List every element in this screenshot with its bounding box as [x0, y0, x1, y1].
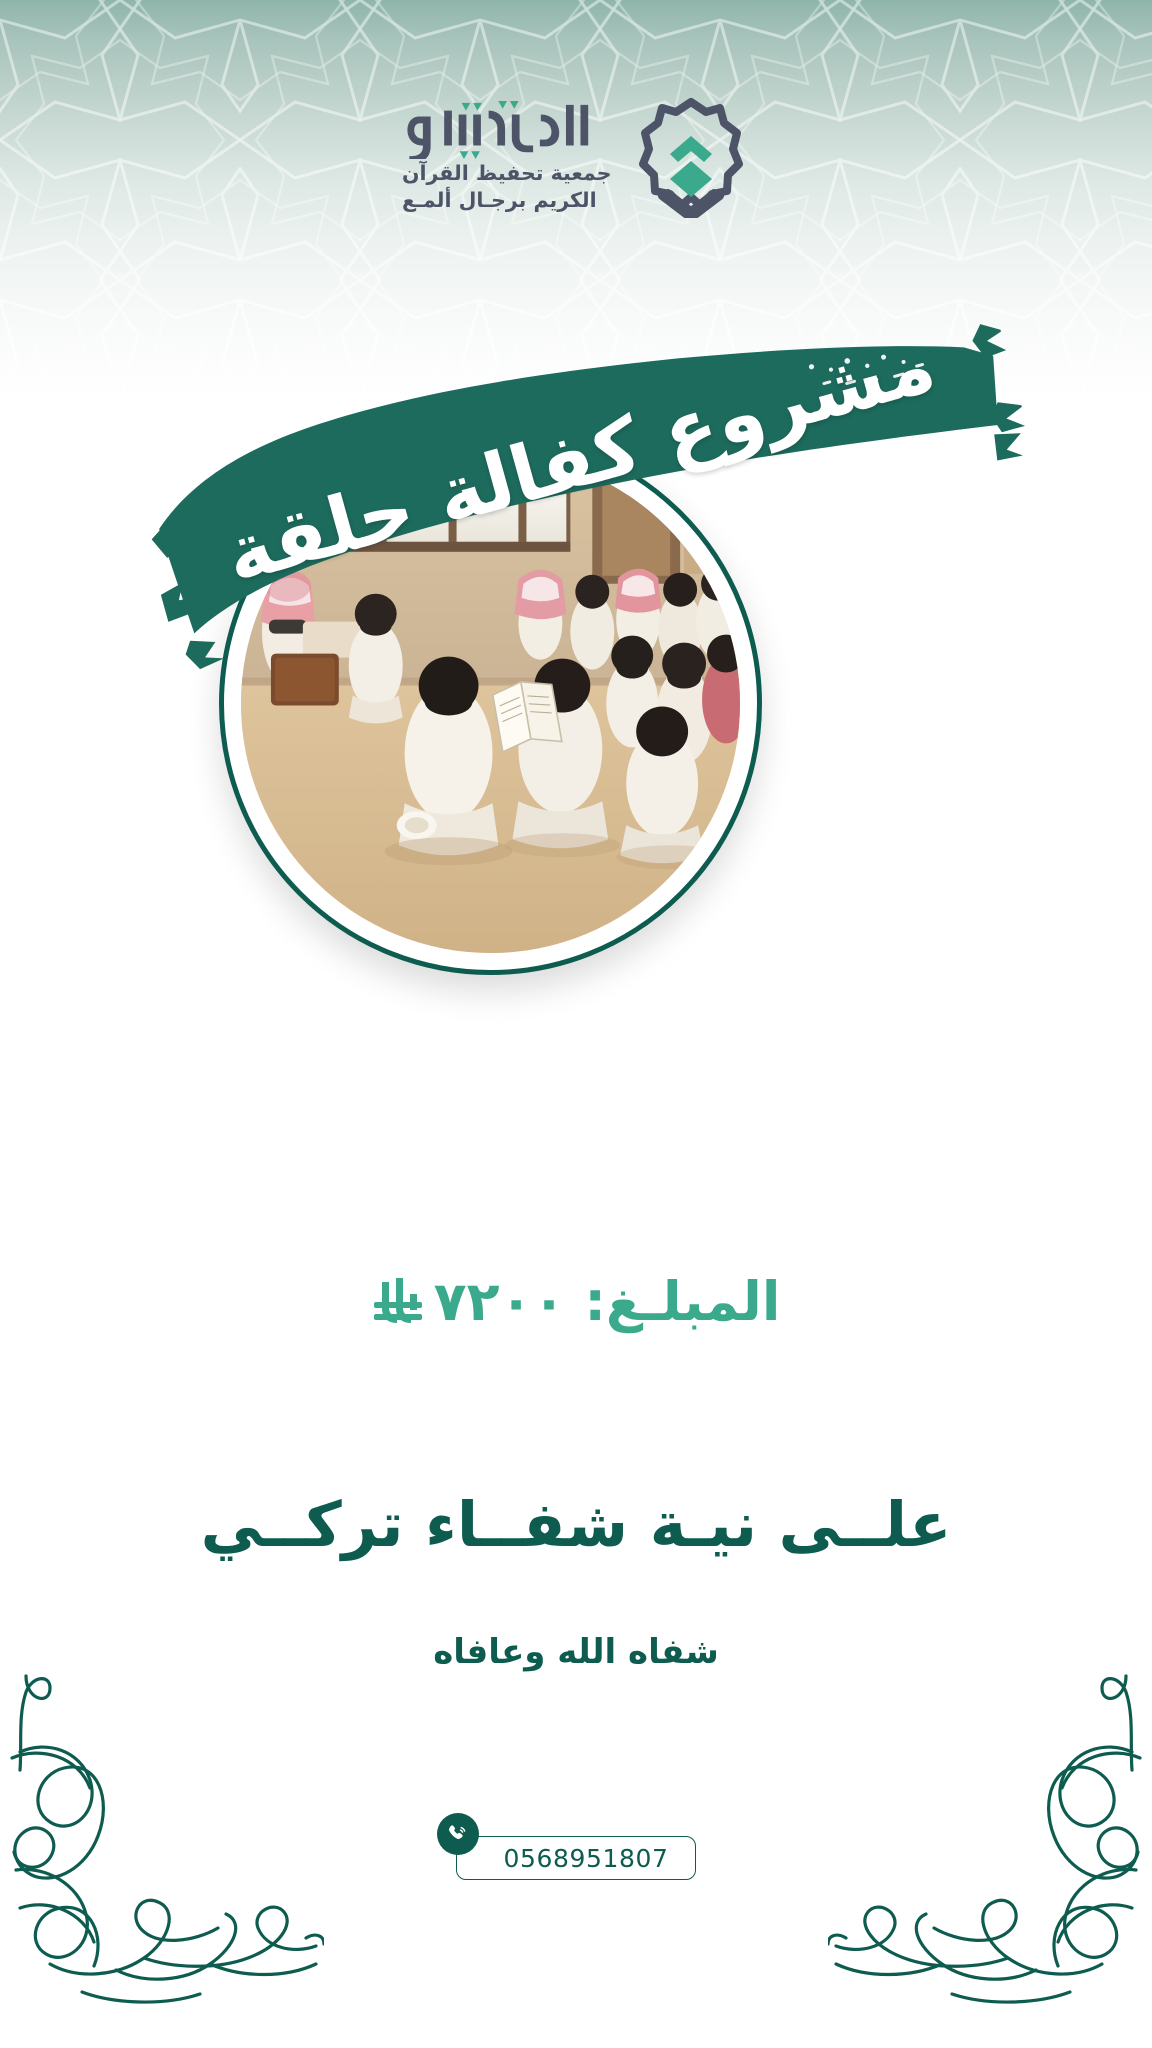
- phone-number[interactable]: 0568951807: [503, 1844, 668, 1873]
- organization-logo: جمعية تحفيظ القرآن الكريم برجـال ألمـع: [0, 96, 1152, 218]
- dedication-subline: شفاه الله وعافاه: [0, 1632, 1152, 1672]
- donation-poster: جمعية تحفيظ القرآن الكريم برجـال ألمـع: [0, 0, 1152, 2048]
- phone-call-icon[interactable]: [437, 1813, 479, 1855]
- trateel-hexagon-logo-icon: [632, 96, 750, 218]
- phone-pill[interactable]: 0568951807: [456, 1836, 695, 1880]
- trateel-wordmark: [402, 101, 612, 159]
- donation-amount: المبلـغ: ٧٢٠٠: [0, 1270, 1152, 1333]
- amount-label: المبلـغ: ٧٢٠٠: [434, 1270, 781, 1333]
- logo-subtitle-line-1: جمعية تحفيظ القرآن: [402, 161, 611, 186]
- saudi-riyal-symbol-icon: [372, 1276, 424, 1328]
- dedication-headline: علــى نيـة شفــاء تركــي: [0, 1488, 1152, 1561]
- logo-subtitle-line-2: الكريم برجـال ألمـع: [402, 188, 597, 213]
- contact-badge[interactable]: 0568951807: [0, 1836, 1152, 1880]
